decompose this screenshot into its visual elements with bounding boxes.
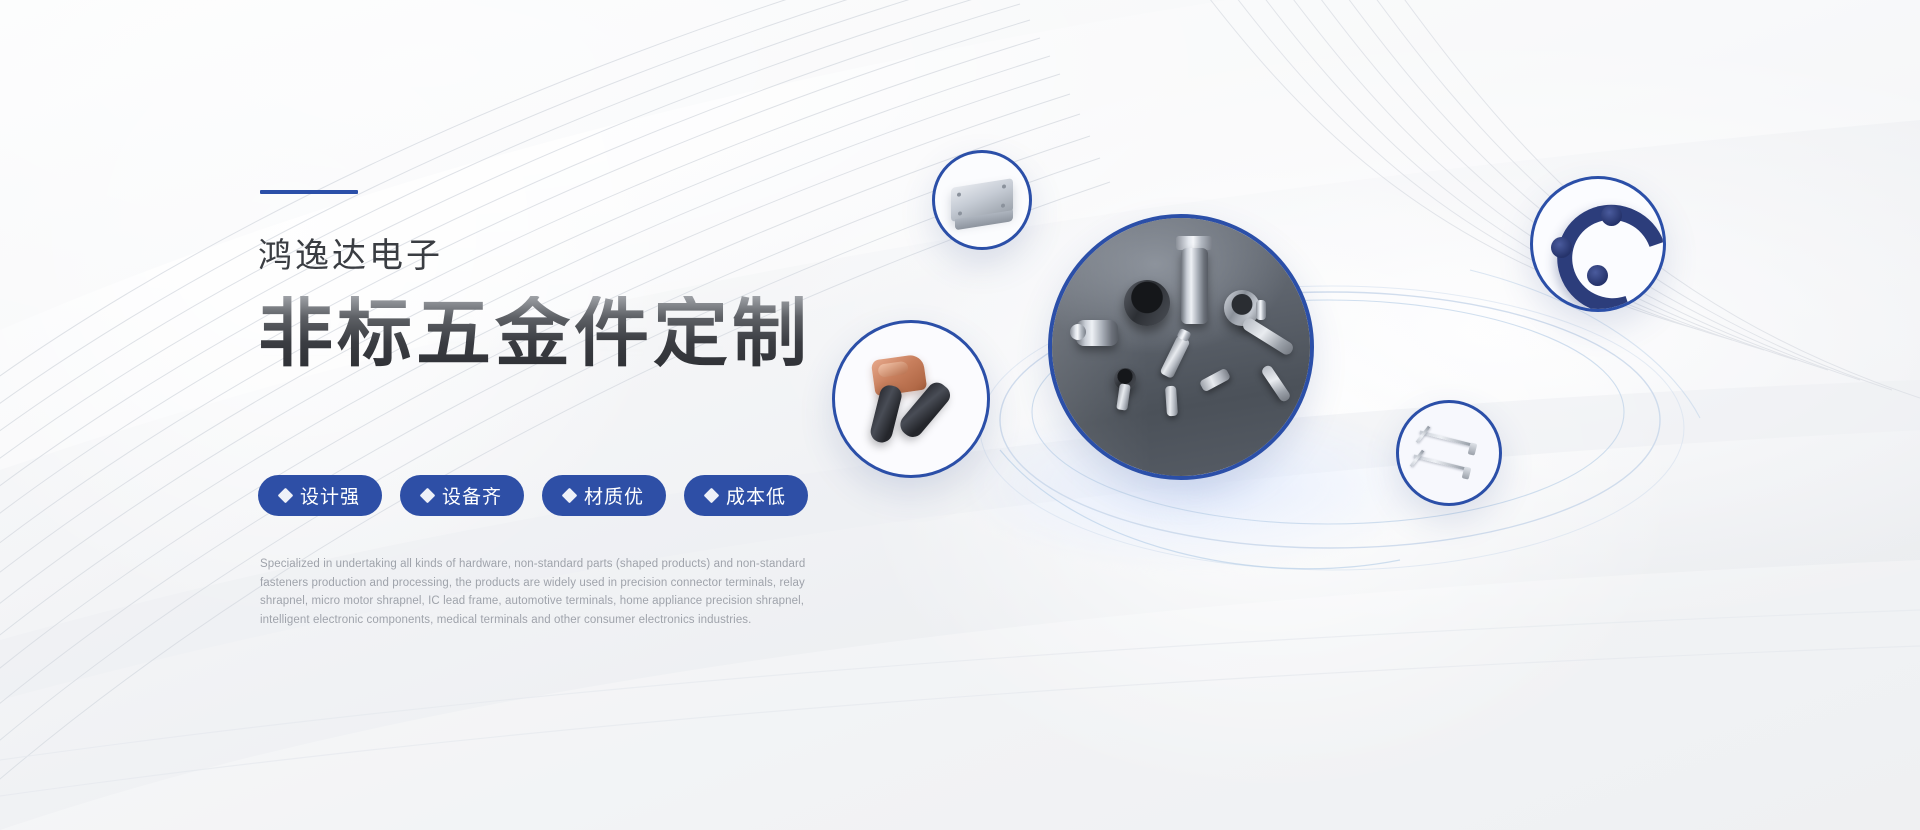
- metal-part: [1165, 386, 1178, 417]
- wire-tip: [1468, 442, 1478, 455]
- company-description: Specialized in undertaking all kinds of …: [260, 555, 830, 630]
- screw-icon: [1001, 203, 1005, 208]
- product-artwork: [930, 150, 1770, 650]
- feature-badge-label: 材质优: [584, 482, 644, 509]
- metal-part: [1256, 300, 1266, 320]
- clip-lug: [1601, 205, 1622, 226]
- diamond-icon: [704, 488, 720, 504]
- clip-lug: [1551, 237, 1572, 258]
- wire-tip: [1462, 466, 1472, 479]
- enclosure-body: [951, 178, 1013, 222]
- enclosure-image: [935, 153, 1029, 247]
- metal-part: [1070, 324, 1086, 340]
- bubble-enclosure[interactable]: [932, 150, 1032, 250]
- feature-badge-equipment[interactable]: 设备齐: [400, 475, 524, 516]
- metal-part: [1181, 248, 1208, 324]
- wire-terminals-image: [1399, 403, 1499, 503]
- wire-terminal: [1413, 455, 1466, 471]
- bubble-clamp[interactable]: [832, 320, 990, 478]
- clip-lug: [1587, 265, 1608, 286]
- brand-subtitle: 鸿逸达电子: [258, 228, 443, 277]
- feature-badge-label: 成本低: [726, 482, 786, 509]
- feature-badge-cost[interactable]: 成本低: [684, 475, 808, 516]
- diamond-icon: [420, 488, 436, 504]
- screw-icon: [958, 211, 962, 216]
- accent-rule: [260, 190, 358, 194]
- wire-terminal: [1419, 431, 1472, 447]
- metal-part: [1124, 280, 1170, 326]
- hero-banner: 鸿逸达电子 非标五金件定制 非标五金件定制 设计强 设备齐 材质优 成本低: [0, 0, 1920, 830]
- diamond-icon: [278, 488, 294, 504]
- clamp-image: [835, 323, 987, 475]
- retaining-clip-image: [1533, 179, 1663, 309]
- feature-badge-list: 设计强 设备齐 材质优 成本低: [258, 475, 808, 516]
- bubble-main-parts[interactable]: [1048, 214, 1314, 480]
- feature-badge-label: 设备齐: [442, 482, 502, 509]
- bubble-wire-terminals[interactable]: [1396, 400, 1502, 506]
- main-parts-image: [1052, 218, 1310, 476]
- screw-icon: [957, 192, 961, 197]
- bubble-retaining-clip[interactable]: [1530, 176, 1666, 312]
- screw-icon: [1002, 184, 1006, 189]
- feature-badge-label: 设计强: [300, 482, 360, 509]
- feature-badge-design[interactable]: 设计强: [258, 475, 382, 516]
- feature-badge-material[interactable]: 材质优: [542, 475, 666, 516]
- diamond-icon: [562, 488, 578, 504]
- clamp-handle: [868, 383, 903, 445]
